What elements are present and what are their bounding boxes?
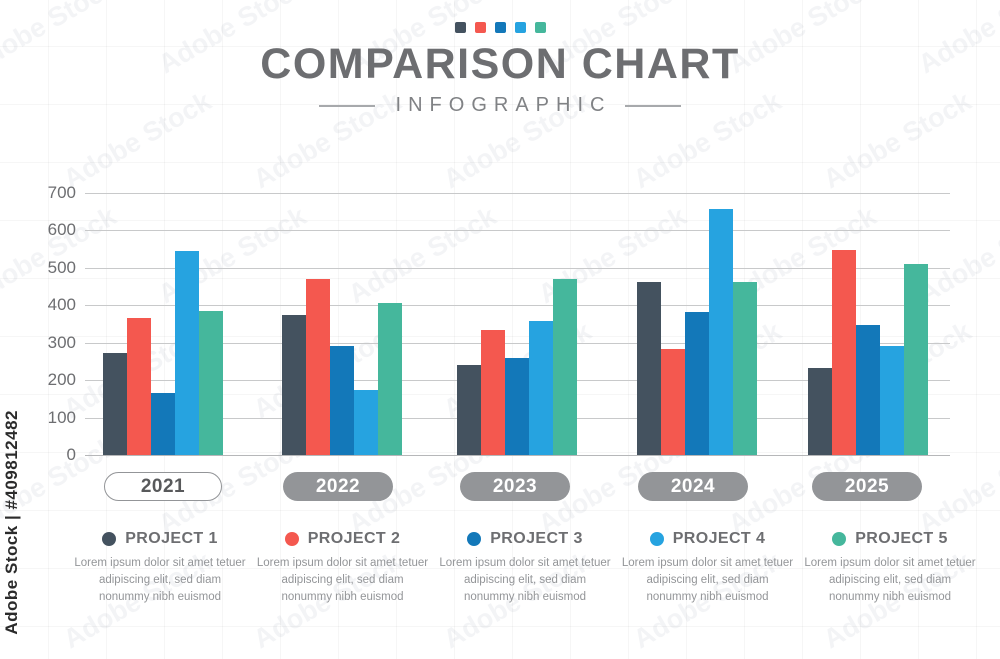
accent-square-2	[475, 22, 486, 33]
legend-header: PROJECT 5	[800, 530, 980, 548]
bar	[553, 279, 577, 455]
bar	[354, 390, 378, 456]
bar	[457, 365, 481, 455]
legend-item-1[interactable]: PROJECT 1Lorem ipsum dolor sit amet tetu…	[70, 530, 250, 606]
watermark-side-text: Adobe Stock | #409812482	[2, 410, 22, 635]
rule-left-decoration	[319, 105, 375, 107]
legend-header: PROJECT 2	[253, 530, 433, 548]
legend-item-5[interactable]: PROJECT 5Lorem ipsum dolor sit amet tetu…	[800, 530, 980, 606]
legend-dot-icon	[832, 532, 846, 546]
bar	[904, 264, 928, 455]
y-axis: 0100200300400500600700	[26, 170, 76, 432]
legend-dot-icon	[467, 532, 481, 546]
bar	[709, 209, 733, 455]
chart-header: COMPARISON CHART INFOGRAPHIC	[0, 22, 1000, 117]
legend-header: PROJECT 4	[618, 530, 798, 548]
accent-square-5	[535, 22, 546, 33]
legend-description: Lorem ipsum dolor sit amet tetuer adipis…	[70, 555, 250, 606]
bar	[282, 315, 306, 455]
y-axis-tick-label: 200	[26, 370, 76, 390]
legend-description: Lorem ipsum dolor sit amet tetuer adipis…	[800, 555, 980, 606]
bar-groups	[85, 193, 950, 455]
legend-label: PROJECT 5	[855, 530, 948, 548]
legend-dot-icon	[650, 532, 664, 546]
year-pill-2025[interactable]: 2025	[812, 472, 922, 501]
legend-label: PROJECT 1	[125, 530, 218, 548]
y-axis-tick-label: 500	[26, 258, 76, 278]
year-pill-2024[interactable]: 2024	[638, 472, 748, 501]
bar	[505, 358, 529, 455]
bar	[856, 325, 880, 455]
y-axis-tick-label: 0	[26, 445, 76, 465]
accent-square-3	[495, 22, 506, 33]
subtitle-row: INFOGRAPHIC	[0, 94, 1000, 117]
legend-dot-icon	[102, 532, 116, 546]
bar	[637, 282, 661, 455]
year-pill-2021[interactable]: 2021	[104, 472, 222, 501]
y-axis-tick-label: 100	[26, 408, 76, 428]
year-pill-2022[interactable]: 2022	[283, 472, 393, 501]
y-axis-tick-label: 700	[26, 183, 76, 203]
bar	[330, 346, 354, 455]
year-pill-2023[interactable]: 2023	[460, 472, 570, 501]
legend-label: PROJECT 4	[673, 530, 766, 548]
rule-right-decoration	[625, 105, 681, 107]
bar-group-2022	[282, 193, 402, 455]
accent-square-1	[455, 22, 466, 33]
legend-item-4[interactable]: PROJECT 4Lorem ipsum dolor sit amet tetu…	[618, 530, 798, 606]
bar	[529, 321, 553, 455]
bar	[832, 250, 856, 455]
bar	[103, 353, 127, 455]
page-title: COMPARISON CHART	[0, 42, 1000, 87]
legend-label: PROJECT 3	[490, 530, 583, 548]
axis-baseline	[85, 455, 950, 456]
legend-item-3[interactable]: PROJECT 3Lorem ipsum dolor sit amet tetu…	[435, 530, 615, 606]
y-axis-tick-label: 600	[26, 220, 76, 240]
page-subtitle: INFOGRAPHIC	[389, 94, 612, 117]
bar-chart: 0100200300400500600700	[0, 170, 1000, 470]
bar	[808, 368, 832, 455]
legend-description: Lorem ipsum dolor sit amet tetuer adipis…	[435, 555, 615, 606]
plot-area	[85, 193, 950, 455]
bar	[151, 393, 175, 455]
bar	[127, 318, 151, 455]
bar	[378, 303, 402, 455]
bar	[175, 251, 199, 455]
y-axis-tick-label: 300	[26, 333, 76, 353]
accent-square-4	[515, 22, 526, 33]
bar	[685, 312, 709, 455]
year-labels-row: 20212022202320242025	[0, 472, 1000, 502]
legend-label: PROJECT 2	[308, 530, 401, 548]
bar	[481, 330, 505, 455]
legend-description: Lorem ipsum dolor sit amet tetuer adipis…	[253, 555, 433, 606]
y-axis-tick-label: 400	[26, 295, 76, 315]
bar-group-2025	[808, 193, 928, 455]
bar-group-2023	[457, 193, 577, 455]
bar-group-2024	[637, 193, 757, 455]
legend-description: Lorem ipsum dolor sit amet tetuer adipis…	[618, 555, 798, 606]
bar-group-2021	[103, 193, 223, 455]
bar	[199, 311, 223, 455]
legend-item-2[interactable]: PROJECT 2Lorem ipsum dolor sit amet tetu…	[253, 530, 433, 606]
legend-header: PROJECT 3	[435, 530, 615, 548]
bar	[306, 279, 330, 455]
legend-dot-icon	[285, 532, 299, 546]
bar	[661, 349, 685, 455]
bar	[733, 282, 757, 455]
accent-squares-row	[0, 22, 1000, 33]
legend: PROJECT 1Lorem ipsum dolor sit amet tetu…	[70, 530, 980, 606]
bar	[880, 346, 904, 455]
legend-header: PROJECT 1	[70, 530, 250, 548]
